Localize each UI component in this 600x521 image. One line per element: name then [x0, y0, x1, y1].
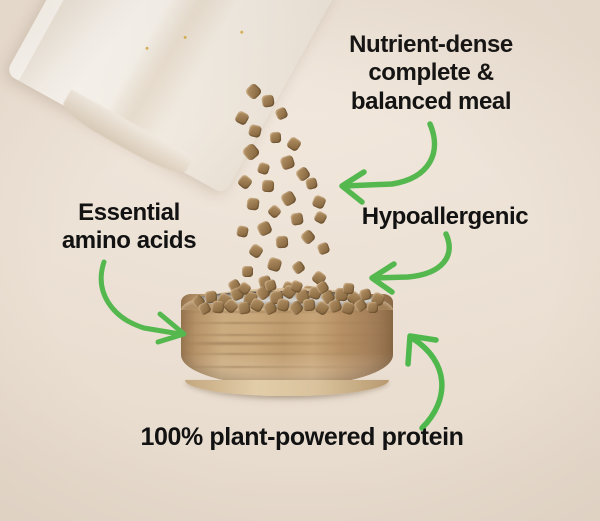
background-vignette: [0, 0, 600, 521]
infographic-canvas: Nutrient-dense complete & balanced meal …: [0, 0, 600, 521]
